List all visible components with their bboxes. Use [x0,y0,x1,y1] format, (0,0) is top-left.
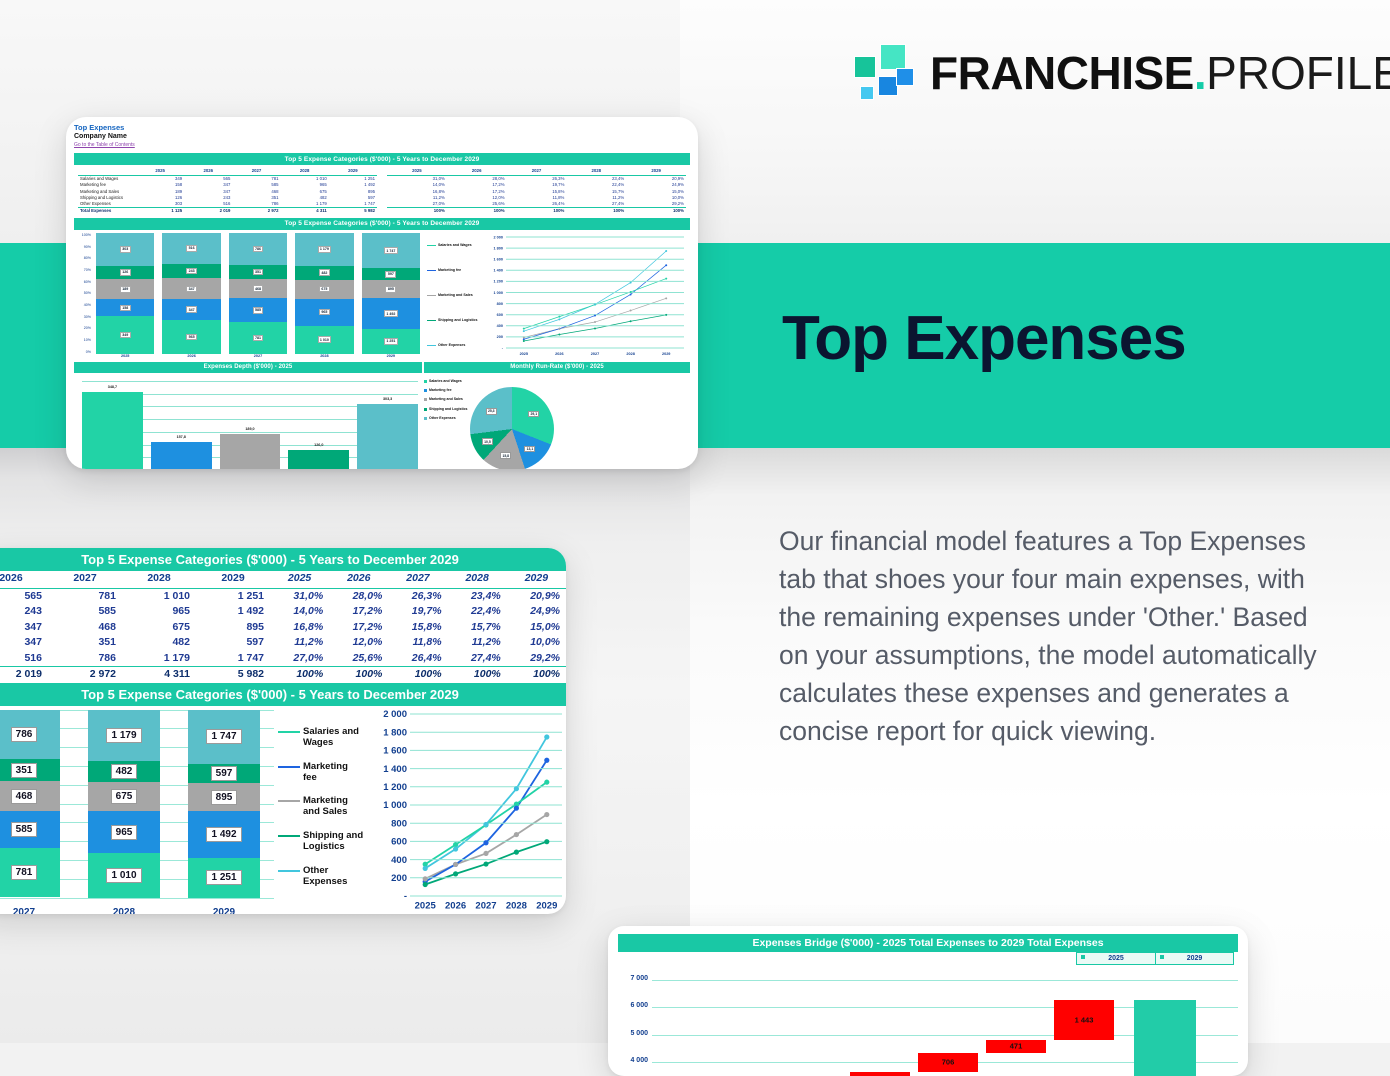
axis-tick: 20% [76,326,91,330]
table-row-total: 100% 100% 100% 100% 100% [270,667,566,683]
svg-text:600: 600 [391,836,407,847]
line-series [524,251,666,331]
legend-line-marker [278,766,300,768]
bar-value-label: 157,8 [151,435,212,439]
line-data-point [483,850,488,855]
section-title-bridge: Expenses Bridge ($'000) - 2025 Total Exp… [618,934,1238,952]
bar-value-label: 471 [986,1042,1046,1051]
page-title: Top Expenses [782,306,1186,371]
stacked-bar-segment: 675 [88,782,160,811]
axis-tick: 0% [76,350,91,354]
line-data-point [483,840,488,845]
expense-tables: 2025 2026 2027 2028 2029 Salaries and Wa… [74,165,690,214]
stacked-bar-segment: 468 [229,279,287,298]
section-title-categories-2: Top 5 Expense Categories ($'000) - 5 Yea… [74,218,690,230]
legend-label: Salaries and Wages [303,726,364,748]
line-data-point [558,333,560,335]
x-axis-label: 2027 [225,354,291,358]
legend-item: Shipping and Logistics [424,407,468,411]
svg-text:2 000: 2 000 [493,235,503,239]
bar-value-label: 468 [11,789,38,804]
line-data-point [453,861,458,866]
brand-name-light: PROFILES [1206,47,1390,99]
axis-tick: 70% [76,268,91,272]
line-data-point [630,281,632,283]
bar-value-label: 1 747 [206,729,241,744]
line-data-point [453,846,458,851]
svg-text:600: 600 [497,313,503,317]
table-row: 27,0% 25,6% 26,4% 27,4% 29,2% [387,201,686,208]
screenshot-card-zoomed-sheet: Top 5 Expense Categories ($'000) - 5 Yea… [0,548,566,914]
table-expense-percentages: 2025 2026 2027 2028 2029 31,0% 28,0% 26,… [387,168,686,214]
legend-label: Marketing fee [429,388,452,392]
line-data-point [544,811,549,816]
stacked-bar-segment: 585 [229,298,287,322]
stacked-bar-segment: 243 [162,264,220,279]
depth-bar-chart: 348,7157,8189,0126,0303,3 [74,373,422,469]
legend-item: Marketing and Sales [278,795,364,817]
sheet-title: Top Expenses [74,123,690,132]
pie-value-label: 25,3 [486,408,497,415]
bar-value-label: 597 [211,766,238,781]
stacked-bar-segment: 189 [96,279,154,299]
stacked-bar-segment: 597 [188,764,260,783]
bridge-legend: 2025 2029 [1076,952,1234,965]
stacked-bar-segment: 565 [162,320,220,354]
stacked-bar-segment: 781 [0,848,60,897]
line-data-point [514,786,519,791]
x-axis-label: 2028 [74,907,174,915]
bar-value-label: 1 492 [206,827,241,842]
depth-bar: 348,7 [82,392,143,469]
stacked-bar-column: 1 1794826759651 010 [295,233,353,354]
line-data-point [665,297,667,299]
legend-label: Salaries and Wages [429,379,462,383]
stacked-bar-segment: 482 [88,761,160,782]
bar-value-label: 1 179 [318,246,332,253]
bar-value-label: 243 [186,268,197,275]
legend-label: Other Expenses [303,865,364,887]
section-title-depth: Expenses Depth ($'000) - 2025 [74,362,422,373]
stacked-bar-segment: 351 [229,265,287,279]
bar-value-label: 303 [120,246,131,253]
monthly-runrate-pie-chart: Salaries and WagesMarketing feeMarketing… [422,373,690,469]
depth-bar: 157,8 [151,442,212,469]
x-axis-label: 2029 [358,354,424,358]
bar-value-label: 1 443 [1054,1015,1114,1024]
bar-value-label: 1 747 [384,247,398,254]
bar-value-label: 585 [11,822,38,837]
x-axis-label: 2027 [475,900,496,911]
waterfall-bar: 1 443 [1054,1000,1114,1040]
bar-value-label: 189,0 [220,427,281,431]
stacked-bar-column: 516243347347565 [162,233,220,354]
line-chart-svg: -2004006008001 0001 2001 4001 6001 8002 … [364,706,566,915]
line-data-point [483,861,488,866]
svg-text:-: - [404,891,407,902]
bar-value-label: 895 [211,790,238,805]
axis-tick: 80% [76,256,91,260]
mini-stack-x-labels: 20252026202720282029 [76,354,424,358]
bar-value-label: 585 [253,307,264,314]
bar-value-label: 1 492 [384,310,398,317]
bar-value-label: 965 [319,309,330,316]
line-data-point [544,734,549,739]
svg-text:1 600: 1 600 [493,257,503,261]
line-data-point [558,316,560,318]
stacked-bar-segment: 158 [96,299,154,316]
x-axis-label: 2027 [0,907,74,915]
legend-line-marker [278,731,300,733]
stacked-bar-segment: 349 [96,316,154,354]
bar-value-label: 482 [111,764,138,779]
svg-text:800: 800 [497,302,503,306]
pie-value-label: 15,8 [500,452,511,459]
line-data-point [423,876,428,881]
stacked-bar-segment: 786 [0,710,60,760]
legend-line-marker [278,800,300,802]
table-row-total: 2 019 2 972 4 311 5 982 [0,667,270,683]
svg-text:-: - [502,346,504,350]
stacked-bar-segment: 347 [162,299,220,320]
line-data-point [523,336,525,338]
axis-tick: 5 000 [618,1030,648,1037]
legend-label: Marketing and Sales [429,397,463,401]
pie-legend: Salaries and WagesMarketing feeMarketing… [424,379,468,425]
line-data-point [594,314,596,316]
line-data-point [665,250,667,252]
col-2028: 2028 [281,168,329,175]
line-data-point [594,327,596,329]
bar-value-label: 1 179 [106,728,141,743]
bar-value-label: 786 [253,246,264,253]
legend-swatch [424,380,427,383]
bar-value-label: 781 [11,865,38,880]
stacked-bar-segment: 895 [362,280,420,298]
brand-name-bold: FRANCHISE [930,47,1194,99]
section-titles-depth-runrate: Expenses Depth ($'000) - 2025 Monthly Ru… [74,358,690,373]
zoom-section-title-categories-1: Top 5 Expense Categories ($'000) - 5 Yea… [0,548,566,571]
stacked-bar-segment: 895 [188,783,260,811]
line-data-point [423,865,428,870]
bar-value-label: 1 010 [318,336,332,343]
bar-value-label: 189 [120,286,131,293]
stacked-bar-segment: 1 251 [362,329,420,354]
legend-item: Shipping and Logistics [427,318,486,322]
col-2025: 2025 [136,168,184,175]
x-axis-label: 2029 [174,907,274,915]
line-data-point [630,293,632,295]
axis-tick: 50% [76,291,91,295]
bar-value-label: 1 010 [106,868,141,883]
col-2027: 2027 [232,168,280,175]
table-row: 16,8% 17,2% 15,8% 15,7% 15,0% [270,620,566,636]
table-row-total: 100% 100% 100% 100% 100% [387,207,686,214]
stacked-bar-segment: 1 492 [362,298,420,328]
bar-value-label: 516 [186,245,197,252]
zoom-stack-x-labels: 202720282029 [0,907,274,915]
line-data-point [630,291,632,293]
stacked-bar-column: 1 7475978951 4921 251 [362,233,420,354]
svg-text:1 400: 1 400 [383,763,407,774]
table-row: Salaries and Wages 349 565 781 1 010 1 2… [78,175,377,182]
stacked-bar-segment: 516 [162,233,220,264]
bar-value-label: 965 [111,825,138,840]
zoom-section-title-categories-2: Top 5 Expense Categories ($'000) - 5 Yea… [0,683,566,706]
line-data-point [523,338,525,340]
col-2029: 2029 [329,168,377,175]
bar-value-label: 482 [319,269,330,276]
table-row: Other Expenses 303 516 786 1 179 1 747 [78,201,377,208]
table-row: 347 468 675 895 [0,620,270,636]
zoom-stack-plot: 7863514685857811 1794826759651 0101 7475… [0,710,274,898]
line-data-point [453,871,458,876]
stacked-bar-segment: 597 [362,268,420,280]
legend-item: Shipping and Logistics [278,830,364,852]
line-data-point [558,328,560,330]
line-data-point [594,321,596,323]
pie-value-label: 29,1 [528,411,539,418]
bar-value-label: 781 [253,335,264,342]
svg-text:800: 800 [391,818,407,829]
svg-text:400: 400 [497,324,503,328]
legend-label: Shipping and Logistics [438,318,478,322]
bar-value-label: 786 [11,727,38,742]
bar-value-label: 126,0 [288,443,349,447]
line-data-point [544,779,549,784]
legend-item: Salaries and Wages [427,243,486,247]
section-title-categories-1: Top 5 Expense Categories ($'000) - 5 Yea… [74,153,690,165]
bar-value-label: 597 [385,271,396,278]
legend-item: Salaries and Wages [278,726,364,748]
zoom-chart-legend: Salaries and WagesMarketing feeMarketing… [274,706,364,915]
x-axis-label: 2027 [591,352,599,356]
mini-chart-legend: Salaries and WagesMarketing feeMarketing… [424,233,486,358]
line-chart-svg: -2004006008001 0001 2001 4001 6001 8002 … [486,233,688,358]
gridline [652,980,1238,981]
legend-item: Other Expenses [278,865,364,887]
x-axis-label: 2026 [555,352,563,356]
sheet-company-name: Company Name [74,132,690,141]
axis-tick: 40% [76,303,91,307]
bar-value-label: 347 [186,286,197,293]
line-data-point [630,309,632,311]
background-top-right-panel [680,0,1390,243]
zoom-table-percentages: 2025 2026 2027 2028 2029 31,0% 28,0% 26,… [270,571,566,683]
line-data-point [523,340,525,342]
stacked-bar-segment: 1 010 [295,326,353,354]
hero-paragraph: Our financial model features a Top Expen… [779,522,1339,750]
stacked-bar-segment: 1 251 [188,858,260,897]
legend-line-marker [427,270,436,271]
line-data-point [483,821,488,826]
stacked-bar-segment: 351 [0,759,60,781]
mini-stack-plot: 100%90%80%70%60%50%40%30%20%10%0% 303126… [76,233,424,354]
mini-line-chart: -2004006008001 0001 2001 4001 6001 8002 … [486,233,688,358]
bar-value-label: 351 [253,269,264,276]
zoom-charts-row: 7863514685857811 1794826759651 0101 7475… [0,706,566,915]
legend-label: Other Expenses [438,343,465,347]
bar-value-label: 895 [385,286,396,293]
svg-text:1 000: 1 000 [383,800,407,811]
bar-value-label: 675 [111,789,138,804]
x-axis-label: 2025 [92,354,158,358]
bar-value-label: 1 251 [384,338,398,345]
legend-label: Shipping and Logistics [429,407,468,411]
waterfall-bar [850,1072,910,1076]
depth-bar: 126,0 [288,450,349,469]
stacked-bar-segment: 585 [0,811,60,848]
depth-bar: 303,3 [357,404,418,469]
table-row: 11,2% 12,0% 11,8% 11,2% 10,0% [270,635,566,651]
stacked-bar-column: 1 1794826759651 010 [88,710,160,898]
line-data-point [594,303,596,305]
line-data-point [514,805,519,810]
line-data-point [523,330,525,332]
svg-text:1 400: 1 400 [493,268,503,272]
table-row: 243 585 965 1 492 [0,604,270,620]
stacked-bar-column: 303126189158349 [96,233,154,354]
legend-swatch [424,417,427,420]
legend-label: Marketing fee [303,761,364,783]
section-title-runrate: Monthly Run-Rate ($'000) - 2025 [424,362,690,373]
pie-slices [470,387,554,469]
stacked-bar-segment: 1 492 [188,811,260,858]
mini-percent-axis: 100%90%80%70%60%50%40%30%20%10%0% [76,233,91,354]
x-axis-label: 2026 [445,900,466,911]
line-data-point [558,318,560,320]
bar-value-label: 1 251 [206,870,241,885]
brand-wordmark: FRANCHISE.PROFILES [930,50,1390,96]
pie-value-label: 10,5 [482,438,493,445]
table-expense-values: 2025 2026 2027 2028 2029 Salaries and Wa… [78,168,377,214]
mini-stacked-bar-chart: 100%90%80%70%60%50%40%30%20%10%0% 303126… [76,233,424,358]
axis-tick: 6 000 [618,1002,648,1009]
svg-text:1 000: 1 000 [493,291,503,295]
x-axis-label: 2025 [520,352,528,356]
stacked-bar-column: 1 7475978951 4921 251 [188,710,260,898]
stacked-bar-segment: 1 010 [88,853,160,897]
svg-text:1 600: 1 600 [383,745,407,756]
line-data-point [514,849,519,854]
table-row: 27,0% 25,6% 26,4% 27,4% 29,2% [270,651,566,667]
legend-item: Salaries and Wages [424,379,468,383]
stacked-bar-segment: 1 747 [362,233,420,268]
sheet-header: Top Expenses Company Name Go to the Tabl… [74,123,690,149]
line-data-point [514,831,519,836]
depth-and-pie-row: 348,7157,8189,0126,0303,3 Salaries and W… [74,373,690,469]
bar-value-label: 706 [918,1058,978,1067]
axis-tick: 60% [76,280,91,284]
line-data-point [665,314,667,316]
axis-tick: 4 000 [618,1057,648,1064]
waterfall-bar [1134,1000,1196,1076]
line-data-point [523,328,525,330]
bar-value-label: 126 [120,269,131,276]
legend-swatch [424,398,427,401]
bar-value-label: 347 [186,306,197,313]
table-row: 14,0% 17,2% 19,7% 22,4% 24,9% [270,604,566,620]
stacked-bar-column: 786351468585781 [229,233,287,354]
zoom-line-chart: -2004006008001 0001 2001 4001 6001 8002 … [364,706,566,915]
bar-value-label: 158 [120,305,131,312]
axis-tick: 30% [76,315,91,319]
mini-charts-row: 100%90%80%70%60%50%40%30%20%10%0% 303126… [74,230,690,358]
legend-line-marker [278,870,300,872]
bar-value-label: 348,7 [82,385,143,389]
screenshot-card-expenses-bridge: Expenses Bridge ($'000) - 2025 Total Exp… [608,926,1248,1076]
bar-value-label: 565 [186,334,197,341]
axis-tick: 7 000 [618,975,648,982]
line-data-point [665,264,667,266]
legend-line-marker [427,345,436,346]
stacked-bar-segment: 347 [162,278,220,299]
stacked-bar-segment: 1 747 [188,710,260,765]
table-row: 31,0% 28,0% 26,3% 23,4% 20,9% [270,588,566,604]
stacked-bar-segment: 303 [96,233,154,266]
stacked-bar-column: 786351468585781 [0,710,60,898]
stacked-bar-segment: 965 [88,811,160,853]
zoom-tables: 2026 2027 2028 2029 565 781 1 010 1 251 … [0,571,566,683]
legend-item: Other Expenses [424,416,468,420]
depth-bar: 189,0 [220,434,281,469]
table-row: 31,0% 28,0% 26,3% 23,4% 20,9% [387,175,686,182]
legend-label: Marketing and Sales [438,293,473,297]
bar-value-label: 351 [11,763,38,778]
waterfall-bar: 471 [986,1040,1046,1053]
svg-text:200: 200 [497,335,503,339]
legend-line-marker [427,245,436,246]
axis-tick: 90% [76,245,91,249]
table-row: 516 786 1 179 1 747 [0,651,270,667]
table-of-contents-link[interactable]: Go to the Table of Contents [74,141,690,149]
axis-tick: 100% [76,233,91,237]
svg-text:200: 200 [391,872,407,883]
bridge-legend-2025: 2025 [1077,953,1155,964]
line-data-point [665,277,667,279]
bar-value-label: 349 [120,332,131,339]
legend-label: Salaries and Wages [438,243,472,247]
depth-bars: 348,7157,8189,0126,0303,3 [82,381,418,469]
table-row: 565 781 1 010 1 251 [0,588,270,604]
svg-text:1 800: 1 800 [493,246,503,250]
legend-label: Marketing fee [438,268,461,272]
stacked-bar-segment: 781 [229,322,287,354]
svg-text:400: 400 [391,854,407,865]
brand-dot: . [1194,47,1206,99]
zoom-stacked-bar-chart: 7863514685857811 1794826759651 0101 7475… [0,706,274,915]
legend-item: Marketing fee [278,761,364,783]
line-data-point [544,757,549,762]
line-data-point [630,320,632,322]
col-2026: 2026 [184,168,232,175]
x-axis-label: 2026 [158,354,224,358]
legend-item: Other Expenses [427,343,486,347]
svg-text:1 200: 1 200 [493,280,503,284]
squares-mark-icon [852,42,914,104]
stacked-bar-segment: 786 [229,233,287,265]
x-axis-label: 2028 [506,900,527,911]
legend-label: Shipping and Logistics [303,830,364,852]
legend-swatch [424,408,427,411]
svg-text:2 000: 2 000 [383,709,407,720]
x-axis-label: 2025 [415,900,437,911]
stacked-bar-segment: 965 [295,299,353,326]
svg-text:1 200: 1 200 [383,781,407,792]
legend-label: Marketing and Sales [303,795,364,817]
bar-value-label: 303,3 [357,397,418,401]
x-axis-label: 2029 [536,900,557,911]
